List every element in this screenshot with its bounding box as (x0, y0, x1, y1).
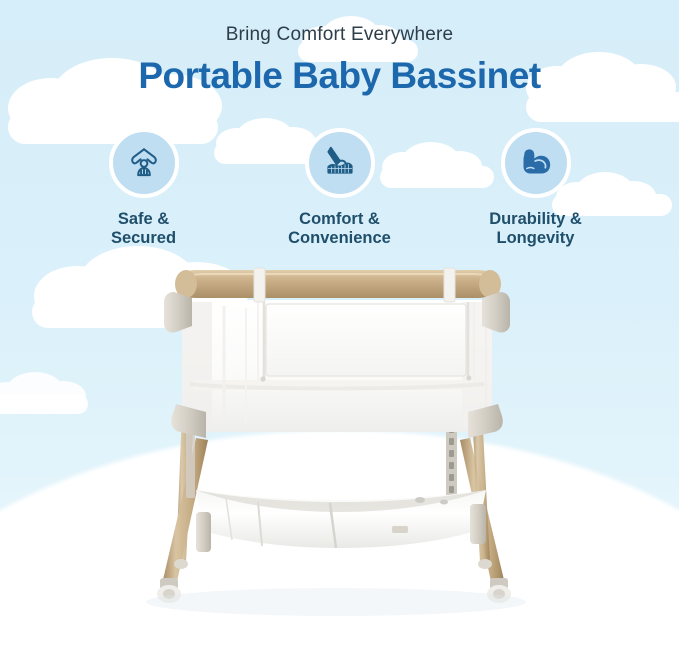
product-photo-bassinet (0, 262, 679, 648)
feature-label: Comfort & Convenience (288, 210, 391, 249)
feature-item-comfort-convenience: Comfort & Convenience (270, 128, 410, 249)
flexed-bicep-icon (516, 141, 556, 186)
feature-label: Safe & Secured (111, 210, 176, 249)
feature-list: Safe & Secured Comfort & Convenience (0, 128, 679, 249)
feature-icon-circle (109, 128, 179, 198)
page-title: Portable Baby Bassinet (0, 55, 679, 98)
promo-image: Bring Comfort Everywhere Portable Baby B… (0, 0, 679, 648)
eyebrow-text: Bring Comfort Everywhere (0, 24, 679, 47)
feature-item-safe-secured: Safe & Secured (74, 128, 214, 249)
feature-icon-circle (305, 128, 375, 198)
sheltering-hands-over-person-icon (124, 141, 164, 186)
header: Bring Comfort Everywhere Portable Baby B… (0, 24, 679, 97)
feature-icon-circle (501, 128, 571, 198)
hand-pressing-mattress-icon (320, 141, 360, 186)
feature-label: Durability & Longevity (489, 210, 582, 249)
feature-item-durability-longevity: Durability & Longevity (466, 128, 606, 249)
